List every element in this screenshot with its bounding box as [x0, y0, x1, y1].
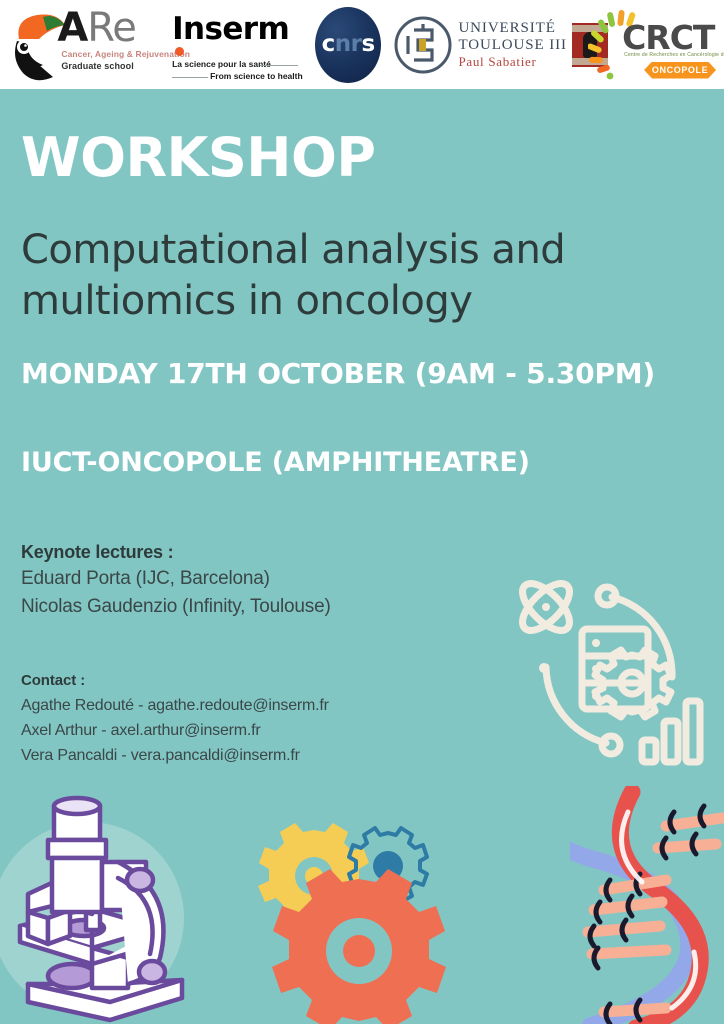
inserm-rule-bottom	[172, 77, 208, 79]
contact-person[interactable]: Axel Arthur - axel.arthur@inserm.fr	[21, 718, 329, 743]
orbit-dot-top	[598, 587, 616, 605]
dna-helix-illustration	[570, 786, 724, 1024]
inserm-rule-top	[260, 65, 298, 67]
cnrs-ellipse: cnrs	[315, 7, 381, 83]
microscope-mirror	[48, 964, 96, 988]
microscope-fine-knob	[139, 961, 165, 983]
are-wordmark: ARe	[57, 5, 136, 51]
are-subtitle: Graduate school	[61, 61, 134, 71]
inserm-logo: Inserm La science pour la santé From sci…	[165, 0, 304, 89]
gears-illustration	[252, 818, 452, 1024]
microscope-coarse-knob	[127, 869, 153, 891]
keynote-speaker: Eduard Porta (IJC, Barcelona)	[21, 565, 331, 593]
keynote-speaker: Nicolas Gaudenzio (Infinity, Toulouse)	[21, 593, 331, 621]
cnrs-wordmark: cnrs	[322, 31, 375, 57]
atom-icon	[515, 576, 577, 638]
keynote-heading: Keynote lectures :	[21, 539, 331, 565]
contact-person[interactable]: Vera Pancaldi - vera.pancaldi@inserm.fr	[21, 743, 329, 768]
inserm-wordmark: Inserm	[172, 11, 289, 47]
inserm-tagline-en: From science to health	[210, 71, 303, 81]
microscope-body-tube	[52, 858, 102, 912]
event-venue: IUCT-ONCOPOLE (AMPHITHEATRE)	[21, 447, 530, 478]
orbit-dot-left	[539, 663, 549, 673]
page-title-line1: Computational analysis and	[21, 225, 565, 276]
sponsor-logo-band: ARe Cancer, Ageing & Rejuvenation Gradua…	[0, 0, 724, 89]
ups-line1: UNIVERSITÉ	[458, 20, 566, 37]
page-title-line2: multiomics in oncology	[21, 276, 565, 327]
page-title-eyebrow: WORKSHOP	[21, 130, 375, 186]
poster-canvas: ARe Cancer, Ageing & Rejuvenation Gradua…	[0, 0, 724, 1024]
cnrs-logo: cnrs	[304, 0, 393, 89]
event-date: MONDAY 17TH OCTOBER (9AM - 5.30PM)	[21, 357, 655, 390]
contact-section: Contact : Agathe Redouté - agathe.redout…	[21, 669, 329, 768]
inserm-tagline-fr: La science pour la santé	[172, 59, 271, 69]
crct-subtitle: Centre de Recherches en Cancérologie de …	[624, 52, 724, 58]
ups-line2: TOULOUSE III	[458, 37, 566, 54]
crct-logo: CRCT Centre de Recherches en Cancérologi…	[586, 0, 724, 89]
universite-toulouse-logo: UNIVERSITÉ TOULOUSE III Paul Sabatier	[393, 0, 586, 89]
inserm-dot-icon	[175, 47, 184, 56]
data-analytics-illustration	[494, 555, 724, 785]
keynote-section: Keynote lectures : Eduard Porta (IJC, Ba…	[21, 539, 331, 621]
page-title: Computational analysis and multiomics in…	[21, 225, 565, 327]
contact-person[interactable]: Agathe Redouté - agathe.redoute@inserm.f…	[21, 693, 329, 718]
crct-oncopole-ribbon: ONCOPOLE	[644, 62, 716, 79]
microscope-illustration	[0, 788, 205, 1024]
server-rack-icon	[582, 629, 648, 709]
orbit-dot-bottom	[602, 736, 620, 754]
ups-line3: Paul Sabatier	[458, 54, 566, 70]
contact-heading: Contact :	[21, 669, 329, 693]
are-logo: ARe Cancer, Ageing & Rejuvenation Gradua…	[0, 0, 165, 89]
maze-emblem-icon	[394, 16, 452, 74]
